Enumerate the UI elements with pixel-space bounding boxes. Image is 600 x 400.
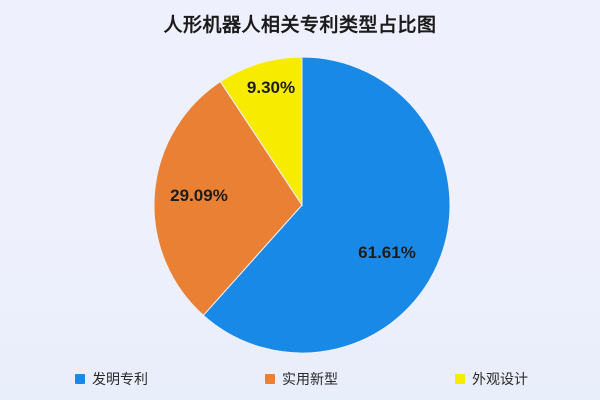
legend-swatch-icon-3 bbox=[455, 374, 465, 384]
legend-swatch-icon-1 bbox=[75, 374, 85, 384]
legend-item-3[interactable]: 外观设计 bbox=[455, 366, 528, 392]
pie-slice-label-3: 9.30% bbox=[247, 78, 295, 98]
pie-slice-label-1: 61.61% bbox=[358, 243, 416, 263]
legend-item-label-3: 外观设计 bbox=[472, 371, 528, 387]
pie-plot-area: 61.61%29.09%9.30% bbox=[0, 0, 600, 400]
pie-svg bbox=[0, 0, 600, 400]
chart-legend: 发明专利实用新型外观设计 bbox=[0, 366, 600, 392]
legend-item-2[interactable]: 实用新型 bbox=[265, 366, 338, 392]
legend-item-label-2: 实用新型 bbox=[282, 371, 338, 387]
pie-slice-label-2: 29.09% bbox=[170, 186, 228, 206]
legend-swatch-icon-2 bbox=[265, 374, 275, 384]
pie-chart-figure: 人形机器人相关专利类型占比图 61.61%29.09%9.30% 发明专利实用新… bbox=[0, 0, 600, 400]
legend-item-label-1: 发明专利 bbox=[92, 371, 148, 387]
legend-item-1[interactable]: 发明专利 bbox=[75, 366, 148, 392]
